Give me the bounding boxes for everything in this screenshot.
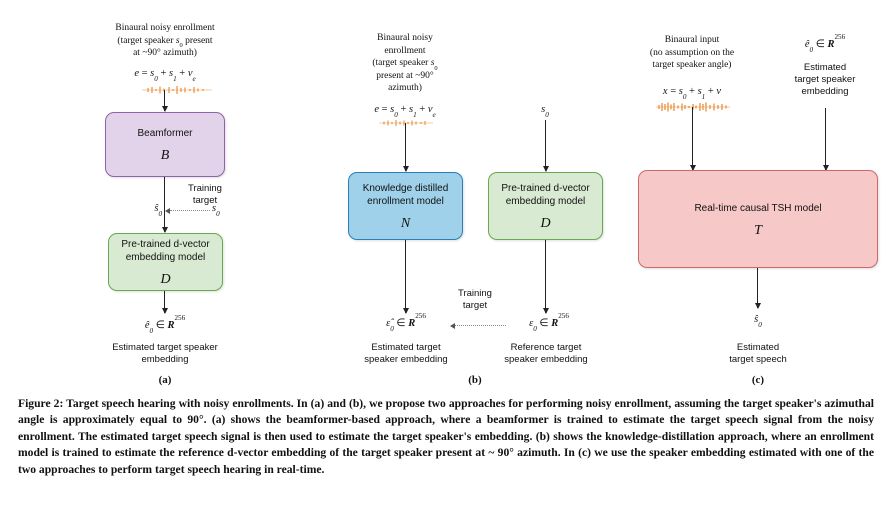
- panel-b-input-caption-line5: azimuth): [340, 82, 470, 95]
- panel-a-training-target-label: Training target: [155, 183, 255, 207]
- panel-a-input-caption-line3: at ~90° azimuth): [30, 47, 300, 60]
- dvector-box-a: Pre-trained d-vector embedding model D: [108, 233, 223, 291]
- knowledge-title-line1: Knowledge distilled: [363, 183, 449, 194]
- dvector-title-b: Pre-trained d-vector embedding model: [495, 182, 595, 208]
- arrow-dvector-to-output-a: [164, 291, 165, 313]
- beamformer-symbol: B: [161, 149, 170, 162]
- arrow-tsh-to-output: [757, 268, 758, 308]
- panel-c-input-caption-line2: (no assumption on the: [628, 47, 756, 60]
- panel-a-output-equation: ê0 ∈ R256: [30, 319, 300, 331]
- panel-b-input-caption-line3: (target speaker s0: [340, 57, 470, 70]
- dotted-arrow-training-target-a: [165, 210, 210, 211]
- panel-a-reference-signal: s0: [212, 203, 236, 214]
- panel-b-left-output-caption-line2: speaker embedding: [348, 354, 464, 366]
- arrow-reference-to-dvector-b: [545, 120, 546, 171]
- panel-c-output-caption-line2: target speech: [628, 354, 888, 366]
- arrow-embedding-to-tsh: [825, 108, 826, 170]
- panel-a-estimated-signal: ŝ0: [136, 203, 162, 214]
- panel-a-training-target-line1: Training: [155, 183, 255, 195]
- panel-a-output-caption-line1: Estimated target speaker: [30, 342, 300, 354]
- dvector-symbol-b: D: [540, 217, 550, 230]
- panel-a-training-target-line2: target: [155, 195, 255, 207]
- panel-b-right-output-caption-line1: Reference target: [488, 342, 604, 354]
- arrow-input-to-tsh: [692, 107, 693, 170]
- panel-a-output-caption: Estimated target speaker embedding: [30, 342, 300, 366]
- panel-c-input-equation: x = s0 + s1 + v: [628, 86, 756, 97]
- panel-c-output-caption: Estimated target speech: [628, 342, 888, 366]
- arrow-knowledge-to-output: [405, 240, 406, 313]
- panel-b-input-caption-line2: enrollment: [340, 45, 470, 58]
- knowledge-title-line2: enrollment model: [367, 196, 444, 207]
- waveform-icon-a: [142, 84, 212, 96]
- panel-b-right-output-equation: ε0 ∈ R256: [493, 317, 605, 329]
- panel-a-input-caption-line1: Binaural noisy enrollment: [30, 22, 300, 35]
- panel-b: Binaural noisy enrollment (target speake…: [330, 0, 620, 394]
- tsh-symbol: T: [754, 224, 762, 237]
- panel-c-input-caption-line1: Binaural input: [628, 34, 756, 47]
- arrow-dvector-to-output-b: [545, 240, 546, 313]
- arrow-input-to-knowledge: [405, 123, 406, 171]
- panel-a-label: (a): [30, 374, 300, 386]
- panel-c-input-caption-line3: target speaker angle): [628, 59, 756, 72]
- panel-b-right-output-caption: Reference target speaker embedding: [488, 342, 604, 366]
- knowledge-title: Knowledge distilled enrollment model: [357, 182, 455, 208]
- panel-a-output-caption-line2: embedding: [30, 354, 300, 366]
- knowledge-distilled-box: Knowledge distilled enrollment model N: [348, 172, 463, 240]
- knowledge-symbol: N: [401, 217, 410, 230]
- panel-c-input-caption: Binaural input (no assumption on the tar…: [628, 34, 756, 72]
- dvector-title-a-line1: Pre-trained d-vector: [121, 239, 209, 250]
- panel-b-input-caption: Binaural noisy enrollment (target speake…: [340, 32, 470, 95]
- beamformer-title: Beamformer: [131, 127, 198, 140]
- panel-a-input-caption: Binaural noisy enrollment (target speake…: [30, 22, 300, 60]
- panel-c-output-equation: ŝ0: [628, 314, 888, 325]
- panel-b-training-target-label: Training target: [425, 288, 525, 312]
- panel-c-embedding-caption-line3: embedding: [765, 86, 885, 98]
- dvector-title-b-line1: Pre-trained d-vector: [501, 183, 589, 194]
- panel-c-embedding-caption: Estimated target speaker embedding: [765, 62, 885, 98]
- panel-c-output-caption-line1: Estimated: [628, 342, 888, 354]
- dvector-title-a: Pre-trained d-vector embedding model: [115, 238, 215, 264]
- panel-c-embedding-caption-line1: Estimated: [765, 62, 885, 74]
- panel-b-input-caption-line1: Binaural noisy: [340, 32, 470, 45]
- beamformer-box: Beamformer B: [105, 112, 225, 177]
- panel-a-input-equation: e = s0 + s1 + ve: [30, 68, 300, 79]
- panel-b-right-output-caption-line2: speaker embedding: [488, 354, 604, 366]
- panel-b-left-output-equation: ε̂0 ∈ R256: [350, 317, 462, 329]
- panel-c-embedding-equation: ê0 ∈ R256: [765, 38, 885, 50]
- panel-b-left-output-caption-line1: Estimated target: [348, 342, 464, 354]
- figure-caption: Figure 2: Target speech hearing with noi…: [18, 396, 874, 478]
- arrow-input-to-beamformer: [164, 90, 165, 111]
- panel-b-input-equation: e = s0 + s1 + ve: [340, 104, 470, 115]
- panel-b-training-target-line2: target: [425, 300, 525, 312]
- tsh-model-box: Real-time causal TSH model T: [638, 170, 878, 268]
- panel-c-embedding-caption-line2: target speaker: [765, 74, 885, 86]
- panel-b-input-caption-line4: present at ~90°: [340, 70, 470, 83]
- dvector-box-b: Pre-trained d-vector embedding model D: [488, 172, 603, 240]
- panel-c-label: (c): [628, 374, 888, 386]
- panel-b-left-output-caption: Estimated target speaker embedding: [348, 342, 464, 366]
- panel-a-input-caption-line2: (target speaker s0 present: [30, 35, 300, 48]
- panel-b-label: (b): [340, 374, 610, 386]
- dvector-symbol-a: D: [160, 273, 170, 286]
- dvector-title-a-line2: embedding model: [126, 252, 206, 263]
- tsh-title: Real-time causal TSH model: [688, 202, 827, 215]
- panel-b-reference-input: s0: [480, 104, 610, 115]
- figure-diagram: Binaural noisy enrollment (target speake…: [0, 0, 891, 394]
- dvector-title-b-line2: embedding model: [506, 196, 586, 207]
- panel-a: Binaural noisy enrollment (target speake…: [0, 0, 330, 394]
- panel-c: Binaural input (no assumption on the tar…: [620, 0, 891, 394]
- panel-b-training-target-line1: Training: [425, 288, 525, 300]
